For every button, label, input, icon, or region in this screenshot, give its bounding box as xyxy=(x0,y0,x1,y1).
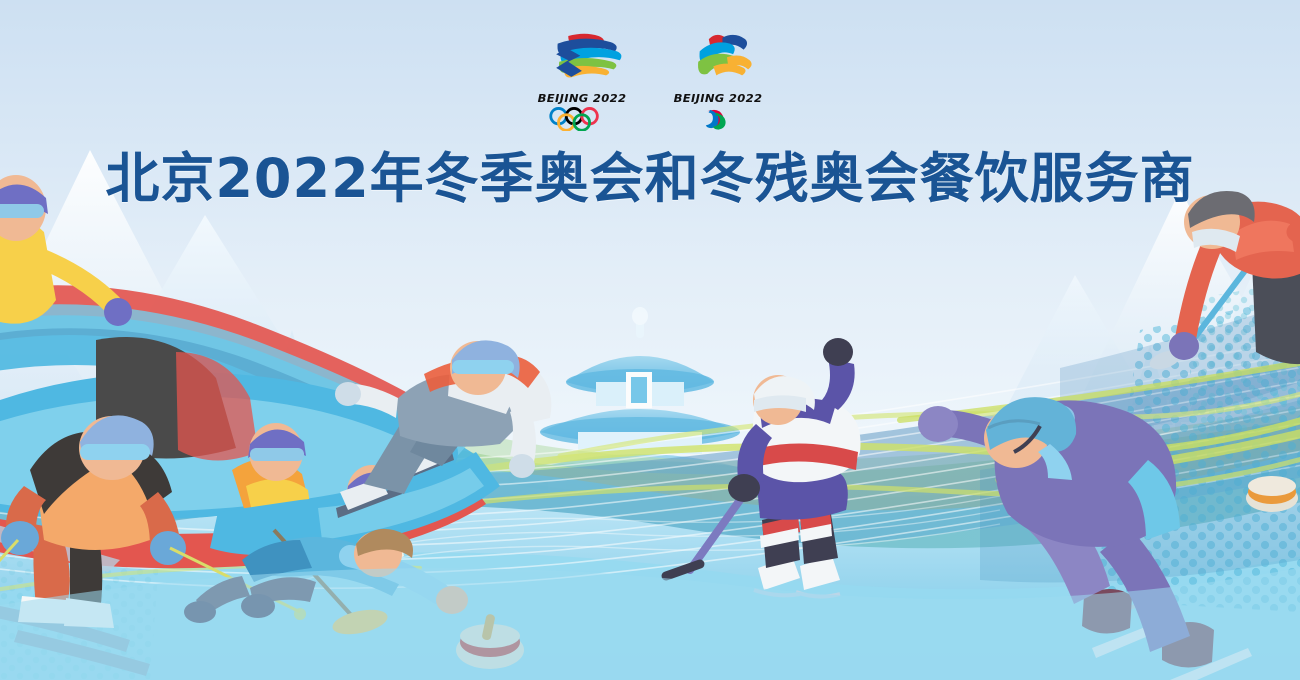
page-title: 北京2022年冬季奥会和冬残奥会餐饮服务商 xyxy=(0,148,1300,210)
ice-hockey-player xyxy=(666,338,861,597)
beijing-2022-olympic-logo: BEIJING 2022 xyxy=(538,30,626,136)
olympic-emblem-mark xyxy=(538,30,629,86)
paralympic-emblem-mark xyxy=(674,30,765,86)
beijing-2022-paralympic-logo: BEIJING 2022 xyxy=(674,30,762,136)
olympic-rings-icon xyxy=(543,107,621,131)
agitos-icon xyxy=(679,107,757,131)
paralympic-wordmark: BEIJING 2022 xyxy=(672,92,764,105)
logo-row: BEIJING 2022 BEIJING 2022 xyxy=(0,30,1300,138)
beijing-2022-banner: BEIJING 2022 BEIJING 2022 xyxy=(0,0,1300,680)
olympic-wordmark: BEIJING 2022 xyxy=(536,92,628,105)
